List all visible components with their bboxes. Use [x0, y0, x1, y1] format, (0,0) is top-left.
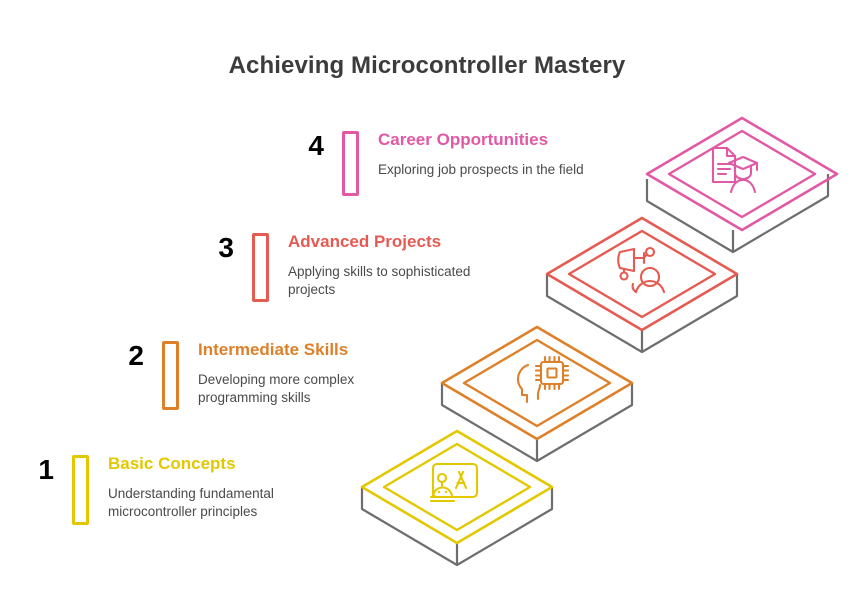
step-1-description: Understanding fundamental microcontrolle… [108, 485, 308, 521]
step-2-diamond-inner [464, 340, 610, 426]
head-microchip-icon [518, 357, 568, 402]
step-3-label: Advanced Projects [288, 232, 493, 252]
step-4-description: Exploring job prospects in the field [378, 161, 630, 179]
step-2-label: Intermediate Skills [198, 340, 383, 360]
step-text-3: 3 Advanced Projects Applying skills to s… [200, 232, 520, 302]
step-4-label: Career Opportunities [378, 130, 630, 150]
step-2-description: Developing more complex programming skil… [198, 371, 383, 407]
robotic-arm-person-icon [618, 248, 664, 292]
step-block-1 [362, 431, 552, 565]
step-4-number: 4 [290, 130, 324, 160]
graduate-document-icon [713, 148, 757, 192]
step-block-4 [647, 118, 837, 252]
step-1-label: Basic Concepts [108, 454, 308, 474]
step-text-2: 2 Intermediate Skills Developing more co… [110, 340, 430, 410]
step-4-diamond-outer [647, 118, 837, 230]
step-3-accent-bar [252, 233, 269, 302]
infographic-canvas: Achieving Microcontroller Mastery [0, 0, 854, 603]
step-2-accent-bar [162, 341, 179, 410]
robot-whiteboard-icon [431, 464, 477, 501]
step-3-number: 3 [200, 232, 234, 262]
step-text-1: 1 Basic Concepts Understanding fundament… [20, 454, 340, 525]
step-3-description: Applying skills to sophisticated project… [288, 263, 493, 299]
step-4-accent-bar [342, 131, 359, 196]
step-text-4: 4 Career Opportunities Exploring job pro… [290, 130, 630, 196]
step-1-accent-bar [72, 455, 89, 525]
step-1-number: 1 [20, 454, 54, 484]
step-2-number: 2 [110, 340, 144, 370]
step-4-diamond-inner [669, 131, 815, 217]
step-block-2 [442, 327, 632, 461]
